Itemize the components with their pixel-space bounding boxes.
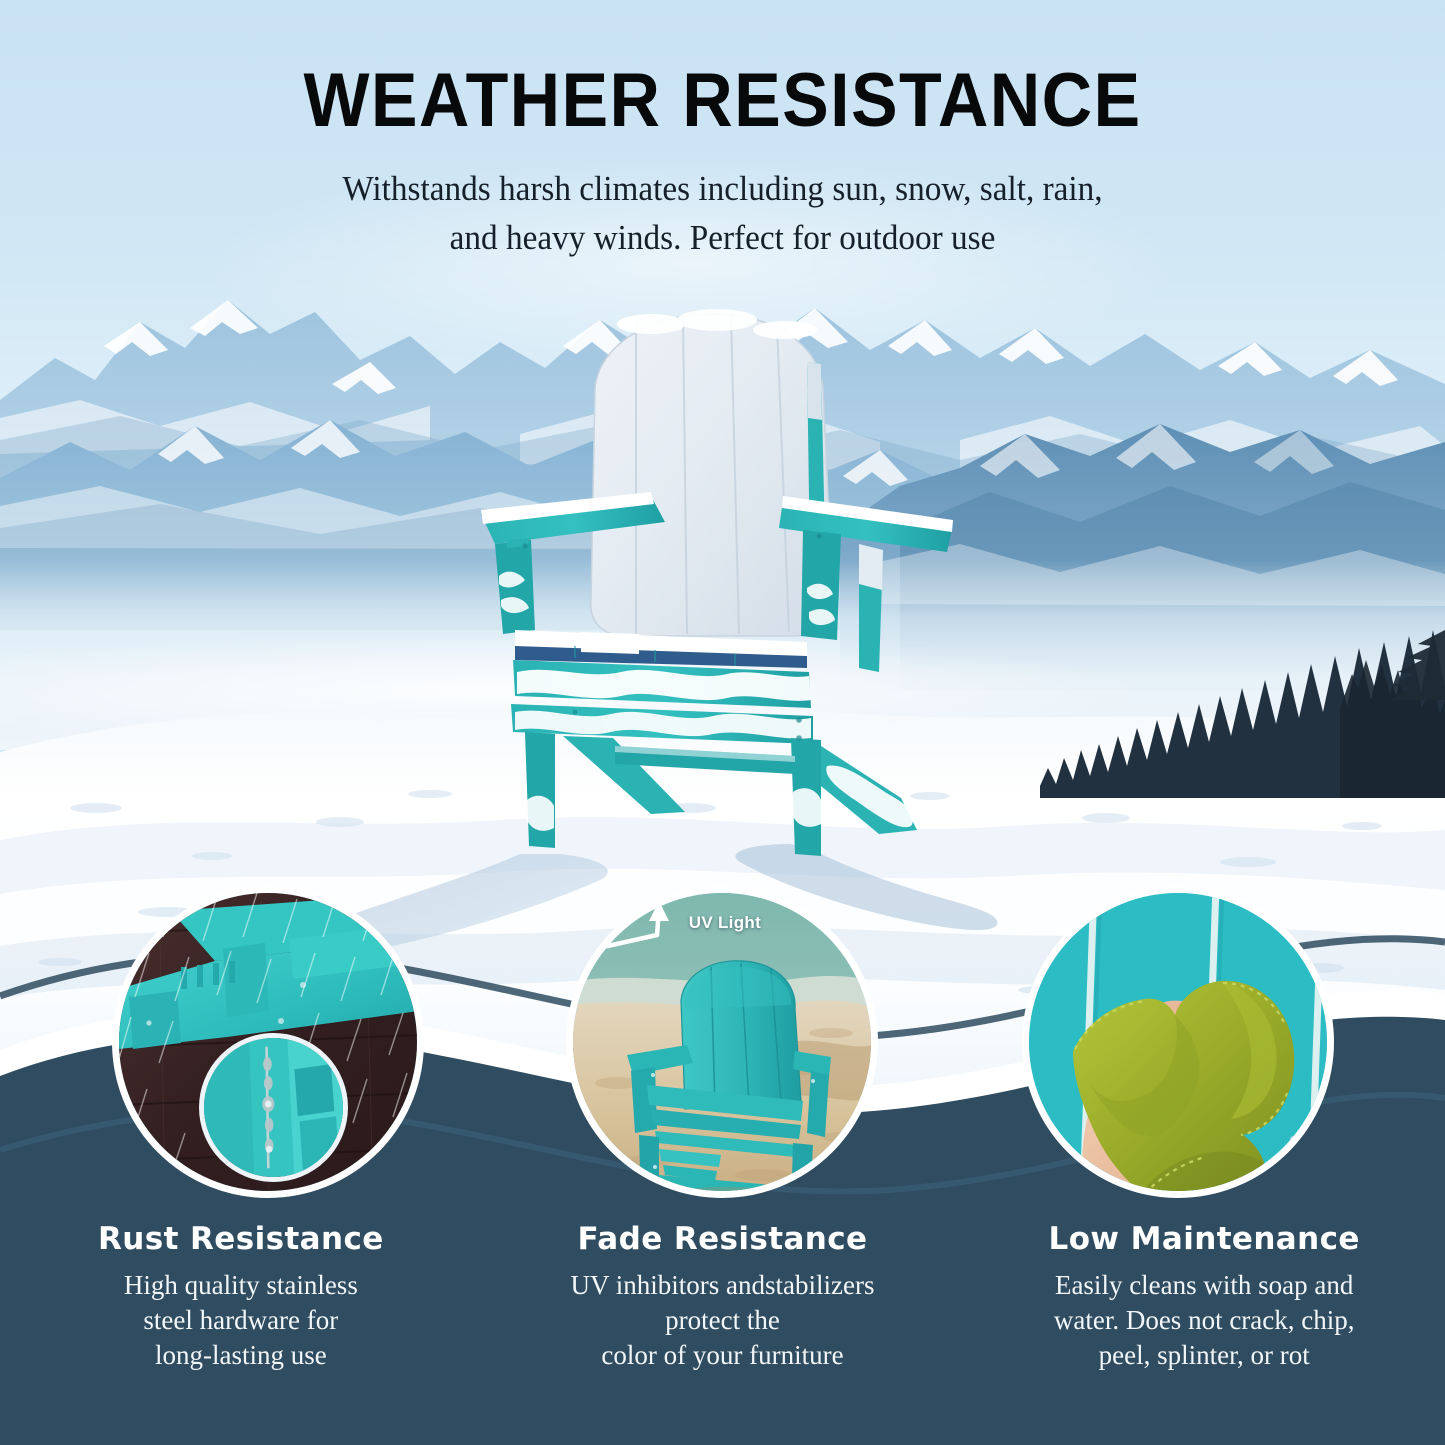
feature-body-line: steel hardware for (26, 1303, 456, 1338)
feature-heading: Low Maintenance (989, 1222, 1419, 1256)
headline-block: WEATHER RESISTANCE Withstands harsh clim… (0, 62, 1445, 263)
feature-body: UV inhibitors andstabilizers protect the… (508, 1268, 938, 1373)
feature-heading: Rust Resistance (26, 1222, 456, 1256)
subtitle-line-2: and heavy winds. Perfect for outdoor use (36, 213, 1409, 263)
feature-body: Easily cleans with soap and water. Does … (989, 1268, 1419, 1373)
uv-light-label: UV Light (689, 913, 761, 933)
subtitle-line-1: Withstands harsh climates including sun,… (36, 164, 1409, 214)
conifer-forest (1040, 608, 1445, 798)
feature-body-line: water. Does not crack, chip, (989, 1303, 1419, 1338)
feature-body-line: color of your furniture (508, 1338, 938, 1373)
feature-body: High quality stainless steel hardware fo… (26, 1268, 456, 1373)
feature-body-line: Easily cleans with soap and (989, 1268, 1419, 1303)
hero-chair-snow-covered (455, 300, 995, 880)
fade-resistance-photo: UV Light (566, 886, 878, 1198)
feature-heading: Fade Resistance (508, 1222, 938, 1256)
feature-body-line: long-lasting use (26, 1338, 456, 1373)
infographic-canvas: UV Light (0, 0, 1445, 1445)
feature-body-line: High quality stainless (26, 1268, 456, 1303)
feature-column-rust-resistance: Rust Resistance High quality stainless s… (0, 1222, 482, 1432)
stainless-hinge-inset (199, 1033, 348, 1182)
feature-body-line: UV inhibitors andstabilizers (508, 1268, 938, 1303)
page-title: WEATHER RESISTANCE (58, 62, 1387, 140)
feature-body-line: protect the (508, 1303, 938, 1338)
rust-resistance-photo (112, 886, 424, 1198)
low-maintenance-photo (1022, 886, 1334, 1198)
feature-body-line: peel, splinter, or rot (989, 1338, 1419, 1373)
feature-column-fade-resistance: Fade Resistance UV inhibitors andstabili… (482, 1222, 964, 1432)
page-subtitle: Withstands harsh climates including sun,… (36, 164, 1409, 263)
feature-column-low-maintenance: Low Maintenance Easily cleans with soap … (963, 1222, 1445, 1432)
feature-columns: Rust Resistance High quality stainless s… (0, 1222, 1445, 1432)
